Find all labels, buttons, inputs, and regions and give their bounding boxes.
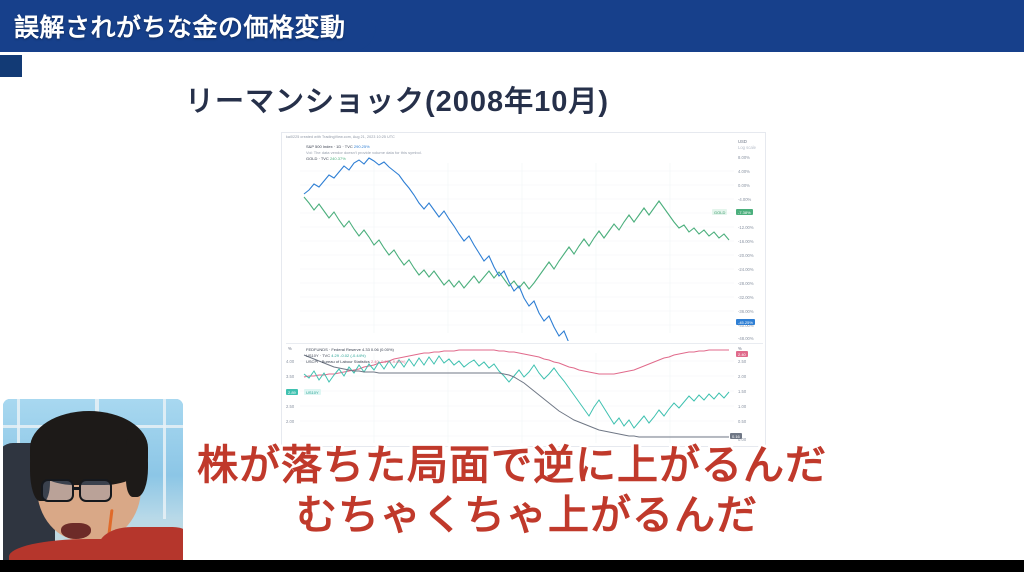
- upper-axis-sub: Log scale: [738, 145, 756, 150]
- legend-value-fedfunds: 4.33 0.06 (0.00%): [362, 347, 394, 352]
- page-title: リーマンショック(2008年10月): [0, 78, 1024, 120]
- legend-symbol-us10y: US10Y · TVC: [306, 353, 330, 358]
- legend-symbol-uscpi: USCPI · Bureau of Labour Statistics: [306, 359, 370, 364]
- gold-price-tag: -7.38%: [736, 209, 753, 215]
- lower-right-ytick-1: 2.00: [738, 374, 746, 379]
- chart-pane-lower: FEDFUNDS · Federal Reserve 4.33 0.06 (0.…: [282, 345, 766, 447]
- legend-value-us10y: 4.29 -0.02 (-0.44%): [331, 353, 365, 358]
- series-fedfunds-line: [304, 355, 729, 437]
- upper-chart-legend: S&P 500 Index · 1D · TVC 290.25% Vol: Th…: [306, 144, 422, 163]
- upper-gridlines: [300, 163, 734, 333]
- presenter-mouth: [61, 523, 91, 539]
- lower-right-ytick-3: 1.00: [738, 404, 746, 409]
- window-mullion-3: [163, 399, 166, 519]
- upper-ytick-2: 0.00%: [738, 183, 750, 188]
- series-spx-line: [304, 158, 729, 341]
- lower-right-ytick-2: 1.50: [738, 389, 746, 394]
- upper-ytick-10: -36.00%: [738, 309, 754, 314]
- legend-value-uscpi: 2.40 -0.20 (-9.40%): [371, 359, 405, 364]
- upper-plot-svg: [282, 133, 766, 341]
- legend-value-spx: 290.25%: [354, 144, 370, 149]
- lower-right-ytick-0: 2.50: [738, 359, 746, 364]
- upper-ytick-9: -32.00%: [738, 295, 754, 300]
- glasses-right-lens: [79, 479, 112, 502]
- glasses-left-lens: [41, 479, 74, 502]
- glasses-bridge: [74, 487, 79, 490]
- upper-ytick-0: 8.00%: [738, 155, 750, 160]
- us10y-series-chip: US10Y: [304, 389, 321, 395]
- series-gold-line: [304, 197, 729, 289]
- tradingview-chart[interactable]: kai0225 created with TradingView.com, Au…: [281, 132, 766, 447]
- legend-row-uscpi: USCPI · Bureau of Labour Statistics 2.40…: [306, 359, 405, 365]
- upper-ytick-1: 4.00%: [738, 169, 750, 174]
- bottom-black-bar: [0, 560, 1024, 572]
- lower-left-ytick-0: 4.00: [286, 359, 294, 364]
- lower-left-ytick-4: 2.00: [286, 419, 294, 424]
- upper-ytick-12: -48.00%: [738, 336, 754, 341]
- presenter-hair-right: [126, 439, 148, 497]
- lower-axis-unit-left: %: [288, 346, 292, 351]
- upper-ytick-4: -12.00%: [738, 225, 754, 230]
- upper-axis-unit: USD: [738, 139, 747, 144]
- chart-pane-upper: S&P 500 Index · 1D · TVC 290.25% Vol: Th…: [282, 133, 766, 341]
- upper-ytick-6: -20.00%: [738, 253, 754, 258]
- lower-chart-legend: FEDFUNDS · Federal Reserve 4.33 0.06 (0.…: [306, 347, 405, 365]
- upper-ytick-7: -24.00%: [738, 267, 754, 272]
- lower-left-ytick-1: 3.50: [286, 374, 294, 379]
- title-banner: 誤解されがちな金の価格変動: [0, 0, 376, 52]
- legend-value-gold: 240.37%: [330, 156, 346, 161]
- banner-title: 誤解されがちな金の価格変動: [14, 8, 346, 44]
- legend-row-gold: GOLD · TVC 240.37%: [306, 156, 422, 162]
- webcam-overlay: [0, 396, 186, 572]
- legend-symbol-gold: GOLD · TVC: [306, 156, 329, 161]
- lower-left-ytick-3: 2.50: [286, 404, 294, 409]
- left-accent-square: [0, 55, 22, 77]
- lower-right-ytick-4: 0.50: [738, 419, 746, 424]
- spx-price-tag: -45.25%: [736, 319, 755, 325]
- upper-ytick-5: -16.00%: [738, 239, 754, 244]
- legend-symbol-spx: S&P 500 Index · 1D · TVC: [306, 144, 353, 149]
- uscpi-price-tag: 2.40: [736, 351, 748, 357]
- upper-ytick-8: -28.00%: [738, 281, 754, 286]
- gold-series-chip: GOLD: [712, 209, 727, 215]
- series-us10y-line: [304, 356, 729, 428]
- fedfunds-price-tag: 0.16: [730, 433, 742, 439]
- us10y-price-tag: 2.89: [286, 389, 298, 395]
- legend-symbol-fedfunds: FEDFUNDS · Federal Reserve: [306, 347, 361, 352]
- pane-divider: [286, 343, 763, 344]
- upper-ytick-3: -4.00%: [738, 197, 751, 202]
